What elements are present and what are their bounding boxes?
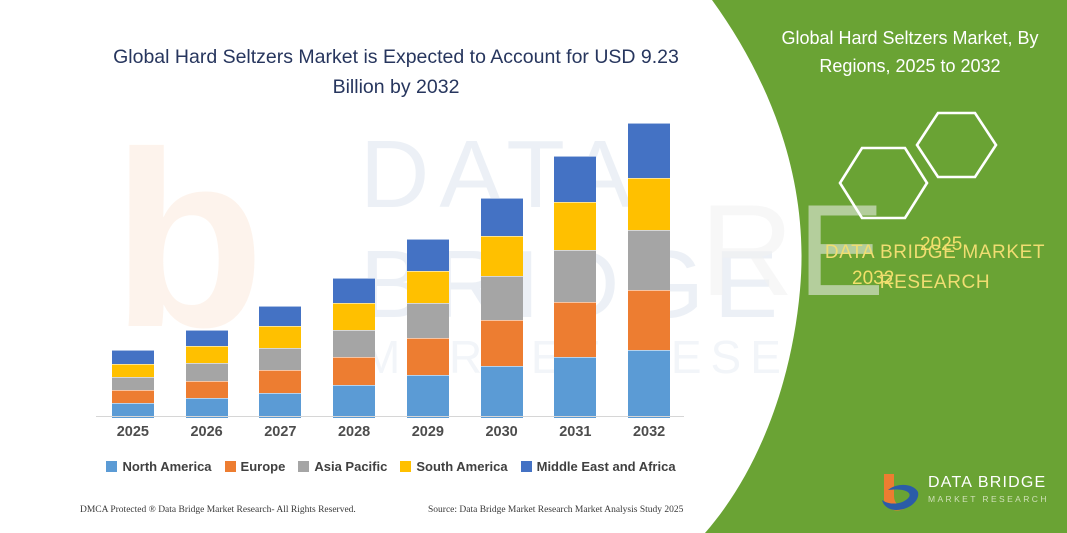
legend-swatch-icon	[400, 461, 411, 472]
bar-segment	[554, 156, 596, 202]
bar-segment	[481, 198, 523, 236]
bar-segment	[259, 326, 301, 348]
bar-segment	[259, 393, 301, 418]
legend-swatch-icon	[106, 461, 117, 472]
bar-segment	[407, 239, 449, 271]
logo-title: DATA BRIDGE	[928, 474, 1046, 492]
bar-segment	[481, 320, 523, 366]
legend-item-south-america[interactable]: South America	[400, 459, 507, 474]
x-tick-2026: 2026	[177, 424, 237, 440]
bar-segment	[407, 303, 449, 338]
bar-segment	[112, 350, 154, 363]
legend-swatch-icon	[298, 461, 309, 472]
footer-copyright: DMCA Protected ® Data Bridge Market Rese…	[80, 505, 356, 515]
bar-segment	[259, 370, 301, 393]
bar-stack-2027	[259, 306, 301, 418]
bar-segment	[407, 271, 449, 304]
x-axis-tick-labels: 20252026202720282029203020312032	[96, 424, 686, 448]
bar-segment	[333, 330, 375, 357]
panel-brand-line1: DATA BRIDGE MARKET	[790, 238, 1067, 268]
bar-segment	[112, 390, 154, 403]
bar-segment	[259, 348, 301, 370]
bar-segment	[628, 290, 670, 350]
x-tick-2030: 2030	[472, 424, 532, 440]
stacked-bar-chart	[96, 118, 686, 418]
bar-segment	[481, 236, 523, 276]
bar-stack-2028	[333, 278, 375, 418]
x-tick-2025: 2025	[103, 424, 163, 440]
bar-segment	[554, 250, 596, 302]
x-tick-2027: 2027	[250, 424, 310, 440]
legend-item-asia-pacific[interactable]: Asia Pacific	[298, 459, 387, 474]
hexagon-shapes	[820, 110, 1010, 220]
bar-segment	[554, 357, 596, 418]
infographic-root: b DATA BRIDGE MARKET RESEARCH Global Har…	[0, 0, 1067, 533]
bar-segment	[333, 303, 375, 329]
bar-segment	[186, 346, 228, 363]
page-title: Global Hard Seltzers Market is Expected …	[96, 42, 696, 102]
panel-title: Global Hard Seltzers Market, By Regions,…	[770, 24, 1050, 80]
bar-segment	[259, 306, 301, 327]
bar-segment	[333, 357, 375, 385]
hexagon-2025	[917, 113, 996, 177]
legend-label: Europe	[241, 459, 286, 474]
data-bridge-logo: DATA BRIDGE MARKET RESEARCH	[878, 470, 1058, 520]
bar-segment	[112, 364, 154, 377]
bar-segment	[407, 375, 449, 418]
bar-segment	[186, 381, 228, 398]
bar-segment	[628, 230, 670, 290]
footer-source: Source: Data Bridge Market Research Mark…	[428, 505, 683, 515]
bar-stack-2031	[554, 156, 596, 418]
legend-label: Asia Pacific	[314, 459, 387, 474]
x-tick-2028: 2028	[324, 424, 384, 440]
bar-segment	[112, 377, 154, 390]
x-axis-line	[96, 416, 684, 417]
x-tick-2032: 2032	[619, 424, 679, 440]
chart-legend: North AmericaEuropeAsia PacificSouth Ame…	[96, 455, 686, 477]
legend-item-north-america[interactable]: North America	[106, 459, 211, 474]
logo-mark-icon	[878, 470, 924, 516]
x-tick-2031: 2031	[545, 424, 605, 440]
bar-stack-2025	[112, 350, 154, 418]
bar-segment	[333, 385, 375, 418]
legend-swatch-icon	[521, 461, 532, 472]
panel-brand: DATA BRIDGE MARKET RESEARCH	[790, 238, 1067, 298]
hexagon-group: 2032 2025	[820, 110, 1010, 220]
bar-stack-2029	[407, 239, 449, 418]
panel-brand-line2: RESEARCH	[790, 268, 1067, 298]
x-tick-2029: 2029	[398, 424, 458, 440]
bar-stack-2030	[481, 198, 523, 418]
bar-segment	[628, 178, 670, 230]
legend-label: Middle East and Africa	[537, 459, 676, 474]
hexagon-2032	[840, 148, 927, 218]
bar-segment	[186, 330, 228, 346]
bar-stack-2026	[186, 330, 228, 418]
bar-stack-2032	[628, 123, 670, 418]
bar-segment	[628, 350, 670, 418]
logo-subtitle: MARKET RESEARCH	[928, 494, 1049, 504]
legend-label: North America	[122, 459, 211, 474]
bar-segment	[333, 278, 375, 303]
bar-segment	[554, 202, 596, 250]
bar-segment	[554, 302, 596, 357]
legend-label: South America	[416, 459, 507, 474]
bar-segment	[481, 276, 523, 320]
legend-item-middle-east-and-africa[interactable]: Middle East and Africa	[521, 459, 676, 474]
legend-item-europe[interactable]: Europe	[225, 459, 286, 474]
bar-segment	[186, 363, 228, 380]
footer: DMCA Protected ® Data Bridge Market Rese…	[0, 505, 700, 529]
legend-swatch-icon	[225, 461, 236, 472]
bar-segment	[481, 366, 523, 418]
bar-segment	[628, 123, 670, 178]
bar-segment	[407, 338, 449, 375]
